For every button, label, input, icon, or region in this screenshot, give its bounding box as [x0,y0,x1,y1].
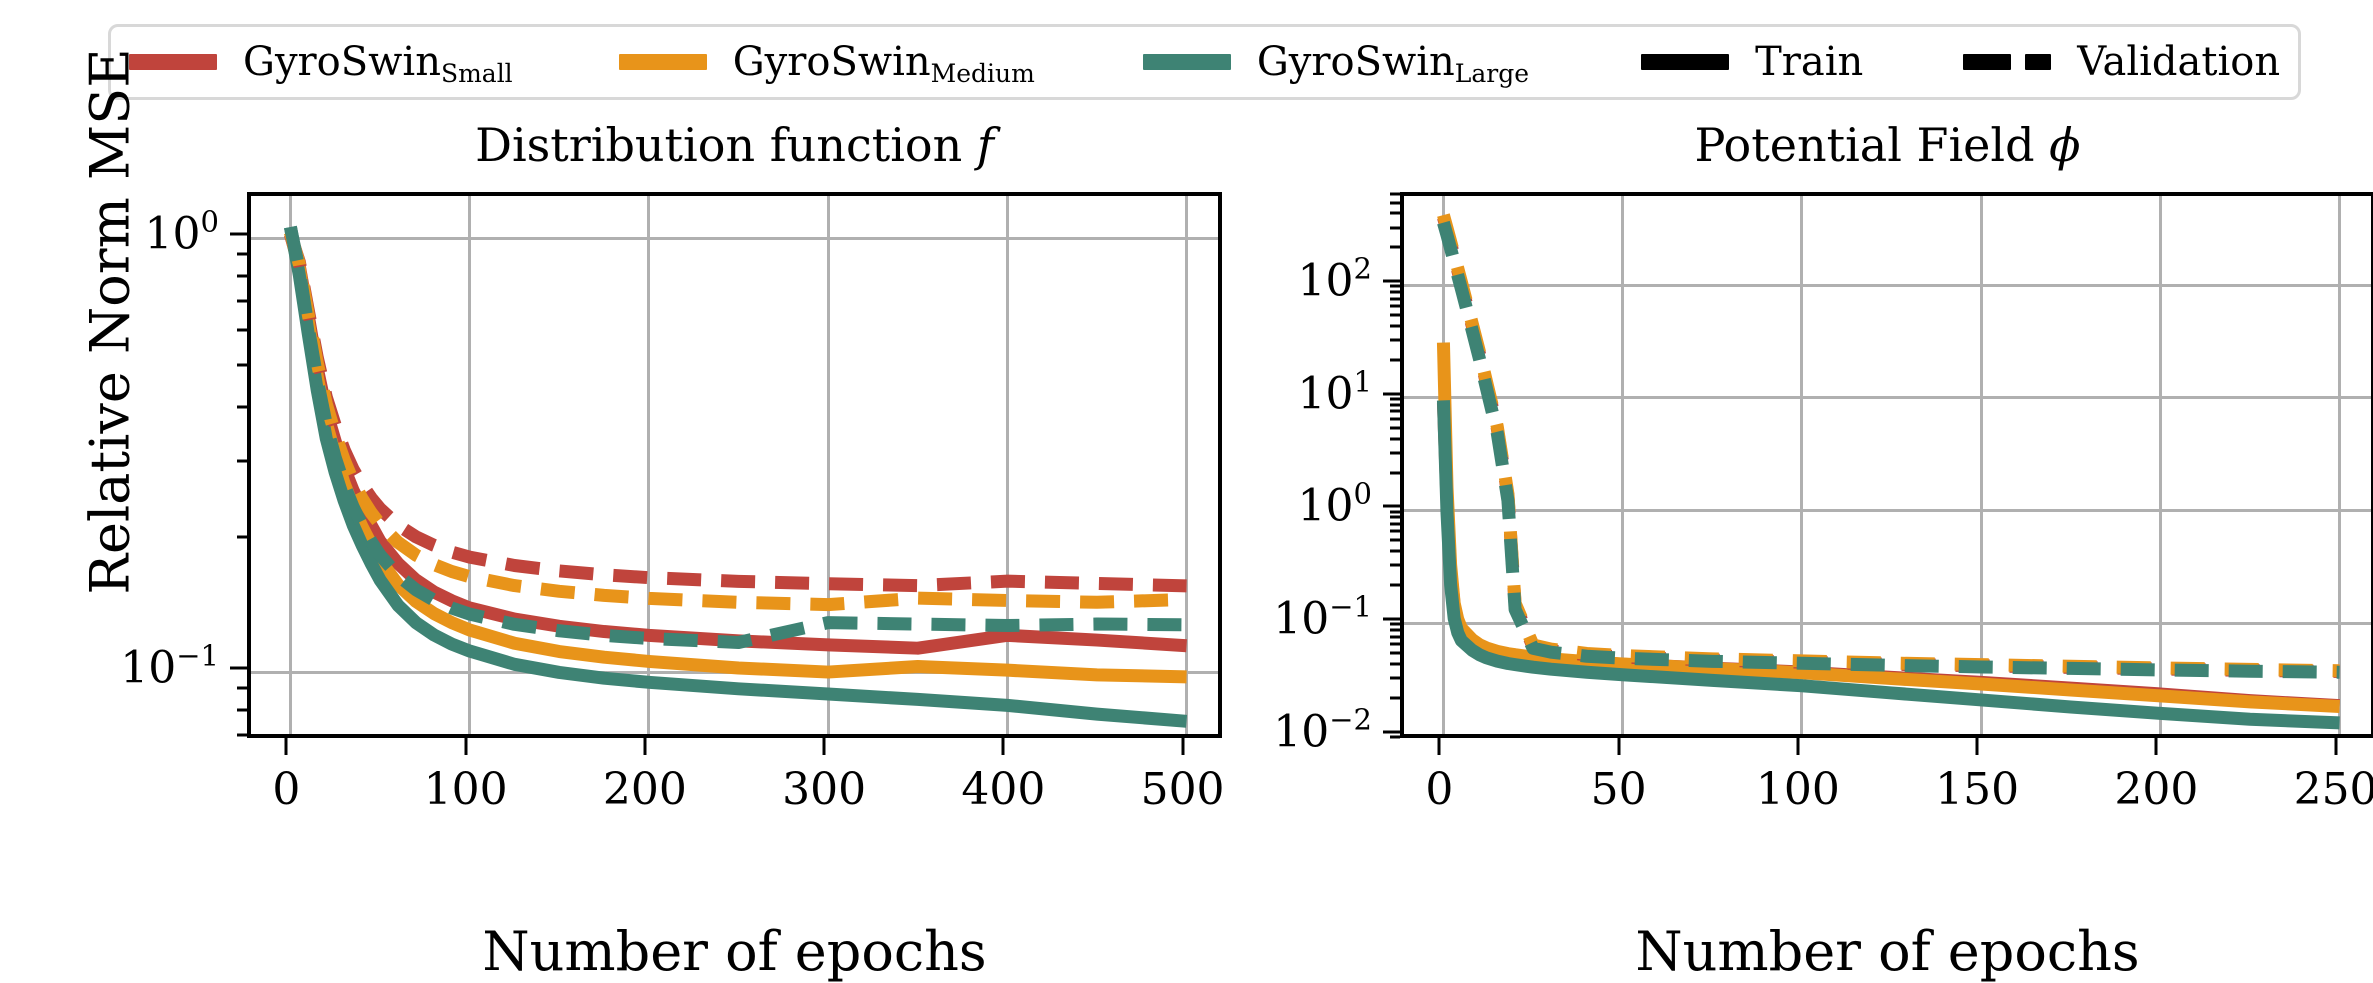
y-tick-minor [1390,530,1400,533]
y-tick-minor [1390,662,1400,665]
x-tick-label: 300 [782,764,866,815]
y-tick-major [1383,618,1400,621]
y-tick-minor [1390,437,1400,440]
legend-label-small: GyroSwinSmall [243,42,513,82]
y-tick-minor [1390,451,1400,454]
y-tick-minor [1390,246,1400,249]
y-tick-major [230,667,247,670]
legend-item-gyroswin-medium: GyroSwinMedium [619,42,1035,82]
x-tick-major [2334,738,2337,755]
legend-item-gyroswin-large: GyroSwinLarge [1143,42,1529,82]
y-tick-minor [1390,643,1400,646]
y-tick-minor [1390,522,1400,525]
y-tick-minor [1390,629,1400,632]
legend-label-large: GyroSwinLarge [1257,42,1529,82]
x-axis-label-right: Number of epochs [1400,920,2373,983]
y-tick-major [230,233,247,236]
y-tick-minor [1390,291,1400,294]
y-tick-minor [1390,192,1400,195]
y-tick-major [1383,730,1400,733]
x-tick-label: 200 [603,764,687,815]
x-tick-major [1438,738,1441,755]
legend-swatch-validation [1963,54,2051,70]
x-tick-label: 0 [272,764,300,815]
gridline-horizontal [1404,734,2371,737]
y-tick-minor [237,363,247,366]
plot-area-left [247,192,1222,738]
y-tick-label: 10−1 [1150,594,1372,645]
series-line [290,232,1186,676]
legend-swatch-small [129,54,217,70]
x-tick-major [285,738,288,755]
y-tick-minor [237,252,247,255]
y-tick-major [1383,505,1400,508]
y-tick-minor [1390,677,1400,680]
x-tick-major [643,738,646,755]
y-tick-minor [1390,285,1400,288]
series-line [1443,223,2339,673]
y-tick-minor [237,709,247,712]
y-tick-minor [1390,735,1400,738]
y-tick-label: 100 [1150,481,1372,532]
y-tick-minor [1390,696,1400,699]
y-tick-minor [237,405,247,408]
legend-swatch-large [1143,54,1231,70]
y-tick-label: 102 [1150,256,1372,307]
y-tick-minor [1390,426,1400,429]
panel-title-right-text: Potential Field ϕ [1694,118,2080,172]
y-tick-minor [237,459,247,462]
y-tick-minor [1390,325,1400,328]
panel-title-left: Distribution function f [247,118,1222,172]
y-axis-label: Relative Norm MSE [79,12,142,632]
y-tick-minor [1390,471,1400,474]
y-tick-minor [1390,297,1400,300]
y-tick-minor [1390,314,1400,317]
y-tick-minor [1390,623,1400,626]
y-tick-minor [237,536,247,539]
y-tick-minor [1390,410,1400,413]
y-tick-minor [1390,550,1400,553]
x-tick-major [1976,738,1979,755]
y-tick-minor [1390,212,1400,215]
series-line [1443,217,2339,671]
y-tick-major [1383,392,1400,395]
y-tick-minor [1390,226,1400,229]
x-tick-major [1002,738,1005,755]
x-tick-label: 200 [2114,764,2198,815]
series-line [290,232,1186,604]
y-tick-minor [237,300,247,303]
y-tick-label: 101 [1150,368,1372,419]
legend-item-train: Train [1641,42,1863,82]
series-line [290,234,1186,586]
y-tick-label: 10−1 [0,643,219,694]
y-tick-minor [237,686,247,689]
figure-root: GyroSwinSmall GyroSwinMedium GyroSwinLar… [0,0,2373,922]
x-tick-label: 50 [1591,764,1647,815]
x-tick-label: 500 [1141,764,1225,815]
panel-title-right: Potential Field ϕ [1400,118,2373,172]
legend-label-train: Train [1755,42,1863,82]
series-line [1443,215,2339,671]
x-tick-major [823,738,826,755]
x-axis-label-left: Number of epochs [247,920,1222,983]
y-tick-minor [1390,201,1400,204]
y-tick-minor [237,734,247,737]
y-tick-minor [1390,510,1400,513]
plot-area-right [1400,192,2373,738]
y-tick-minor [1390,516,1400,519]
x-tick-label: 100 [1756,764,1840,815]
legend-item-gyroswin-small: GyroSwinSmall [129,42,513,82]
legend-swatch-train [1641,54,1729,70]
y-tick-minor [1390,539,1400,542]
x-tick-label: 400 [961,764,1045,815]
y-tick-minor [1390,305,1400,308]
legend-label-validation: Validation [2077,42,2280,82]
x-tick-label: 0 [1425,764,1453,815]
curve-layer [1404,196,2373,738]
x-tick-major [464,738,467,755]
y-tick-label: 10−2 [1150,706,1372,757]
curve-layer [251,196,1222,738]
y-tick-minor [1390,564,1400,567]
panel-title-left-text: Distribution function f [475,118,994,172]
y-tick-minor [1390,403,1400,406]
legend-label-medium: GyroSwinMedium [733,42,1035,82]
x-tick-major [2155,738,2158,755]
y-tick-minor [237,329,247,332]
legend: GyroSwinSmall GyroSwinMedium GyroSwinLar… [108,24,2301,100]
y-tick-minor [1390,584,1400,587]
x-tick-major [1617,738,1620,755]
y-tick-minor [1390,398,1400,401]
x-tick-label: 150 [1935,764,2019,815]
x-tick-label: 100 [424,764,508,815]
y-tick-minor [1390,339,1400,342]
x-tick-major [1796,738,1799,755]
y-tick-major [1383,280,1400,283]
y-tick-minor [1390,417,1400,420]
legend-item-validation: Validation [1963,42,2280,82]
y-tick-minor [237,275,247,278]
y-tick-minor [1390,635,1400,638]
legend-swatch-medium [619,54,707,70]
y-tick-minor [1390,652,1400,655]
y-tick-minor [1390,358,1400,361]
y-tick-label: 100 [0,209,219,260]
x-tick-label: 250 [2294,764,2373,815]
